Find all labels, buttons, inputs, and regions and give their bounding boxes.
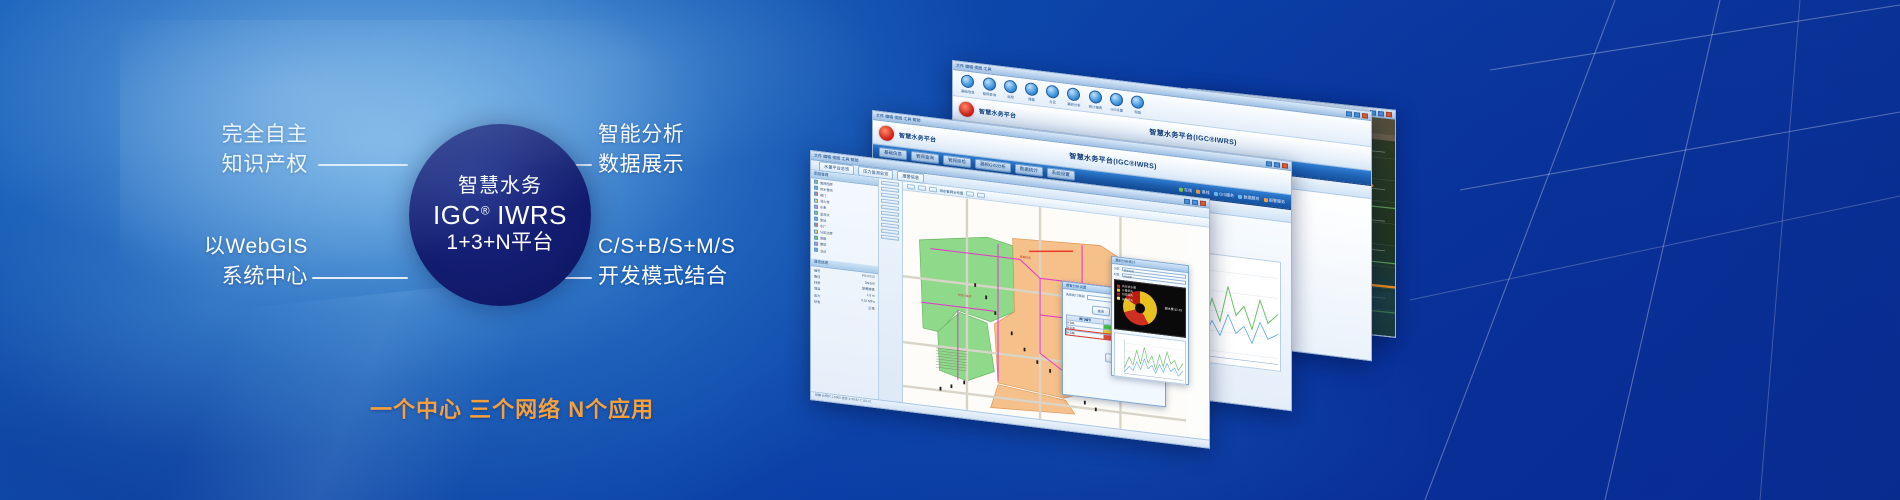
connector-top-left [318,164,408,166]
tool-icon [961,74,974,89]
dialog-leak-analysis[interactable]: 漏损分析统计 分区 城北分区 时段 2014年 有效供水量 计量损失 [1111,256,1189,386]
feature-top-left: 完全自主 知识产权 [158,120,308,180]
status-dot-offline [1196,189,1200,193]
product-prefix: IGC [433,200,481,230]
app-window-front[interactable]: 文件 编辑 视图 工具 帮助 水量平台总览 压力监测总览 报警信息 图层管理 管… [810,150,1210,449]
map-tool-identify[interactable] [966,191,974,197]
map-tool-button[interactable] [881,193,899,199]
layer-panel[interactable]: 图层管理 管网图层 供水管线 阀门 消火栓 水表 监测点 泵站 水厂 分区边界 … [811,170,879,399]
map-tool-measure[interactable] [977,192,985,198]
app-title-middle: 智慧水务平台(IGC®IWRS) [1069,151,1156,172]
center-product: IGC®IWRS [433,201,567,230]
feature-bottom-right: C/S+B/S+M/S 开发模式结合 [598,232,798,292]
center-platform: 1+3+N平台 [446,231,553,255]
feature-bottom-left-line2: 系统中心 [140,262,308,292]
dialog-field-label: 选择阀门/管段 [1066,292,1085,298]
brand-text-middle: 智慧水务平台 [899,130,936,144]
feature-bottom-right-line2: 开发模式结合 [598,262,798,292]
window-controls-middle[interactable] [1266,161,1288,169]
map-tool-button[interactable] [881,211,899,217]
window-controls-back[interactable] [1346,111,1368,119]
toolbar-button[interactable]: 管网查询 [983,77,997,98]
map-tool-zoom-in[interactable] [918,185,926,191]
center-circle: 智慧水务 IGC®IWRS 1+3+N平台 [409,124,591,306]
leak-line-chart[interactable] [1114,332,1186,385]
product-suffix: IWRS [497,200,567,230]
tool-icon [1089,90,1102,105]
status-dot-alarm [1264,197,1268,201]
feature-bottom-left-line1: 以WebGIS [204,235,308,258]
app-title-back: 智慧水务平台(IGC®IWRS) [1149,127,1236,148]
tool-icon [1046,84,1059,99]
toolbar-button[interactable]: 漏损分析 [1067,87,1081,108]
leak-donut-chart[interactable]: 有效供水量 计量损失 物理漏失 其他损失 漏水量 52.25 [1114,279,1186,338]
toolbar-button[interactable]: 帮助 [1131,95,1144,116]
tool-icon [1067,87,1080,102]
brand-text-back: 智慧水务平台 [979,106,1016,120]
donut-legend: 有效供水量 计量损失 物理漏失 其他损失 [1117,283,1136,302]
registered-mark: ® [481,203,490,217]
map-tool-button[interactable] [881,217,899,223]
donut-value-label: 漏水量 52.25 [1165,306,1182,312]
map-tool-strip[interactable] [879,178,903,402]
feature-top-right-line1: 智能分析 [598,123,684,146]
feature-top-left-line1: 完全自主 [222,123,308,146]
toolbar-button[interactable]: 统计报表 [1089,90,1103,111]
window-controls-front[interactable] [1184,198,1206,206]
infographic: 完全自主 知识产权 以WebGIS 系统中心 智能分析 数据展示 C/S+B/S… [0,0,800,500]
feature-top-right-line2: 数据展示 [598,150,798,180]
map-tool-button[interactable] [881,223,899,229]
map-tool-pan[interactable] [907,183,915,189]
tool-icon [1131,95,1144,110]
map-tool-button[interactable] [881,181,899,187]
map-tool-zoom-out[interactable] [929,186,937,192]
map-tool-button[interactable] [881,187,899,193]
tool-icon [983,77,996,92]
feature-bottom-right-line1: C/S+B/S+M/S [598,235,735,258]
status-dot-data [1238,194,1242,198]
tool-icon [1025,82,1038,97]
feature-top-right: 智能分析 数据展示 [598,120,798,180]
feature-top-left-line2: 知识产权 [158,150,308,180]
banner-root: 完全自主 知识产权 以WebGIS 系统中心 智能分析 数据展示 C/S+B/S… [0,0,1900,500]
connector-bottom-left [312,277,408,279]
tool-icon [1004,79,1017,94]
tool-icon [1110,92,1123,107]
map-tool-button[interactable] [881,229,899,235]
status-dot-gis [1214,191,1218,195]
leak-period-label: 时段 [1114,272,1120,277]
status-dot-online [1179,187,1183,191]
company-logo-icon [879,125,894,142]
window-controls-satellite[interactable] [1370,110,1392,117]
dialog-query-button[interactable]: 查询 [1092,305,1110,316]
feature-bottom-left: 以WebGIS 系统中心 [140,232,308,292]
map-tool-button[interactable] [881,235,899,241]
map-tool-button[interactable] [881,199,899,205]
toolbar-button[interactable]: 巡检 [1004,79,1017,100]
toolbar-button[interactable]: 分区 [1046,84,1059,105]
tagline: 一个中心 三个网络 N个应用 [370,392,790,424]
toolbar-button[interactable]: 基础信息 [961,74,975,95]
toolbar-button[interactable]: GIS设置 [1110,92,1123,113]
center-heading: 智慧水务 [458,175,542,197]
toolbar-button[interactable]: 爆管 [1025,82,1038,103]
map-title: 供水管网分布图 [940,187,964,195]
screenshot-stack: 文件 编辑 视图 工具 基础信息 管网查询 巡检 爆管 分区 漏损分析 统计报表… [770,0,1530,500]
company-logo-icon [959,101,974,118]
map-tool-button[interactable] [881,205,899,211]
leak-field-label: 分区 [1114,266,1120,271]
